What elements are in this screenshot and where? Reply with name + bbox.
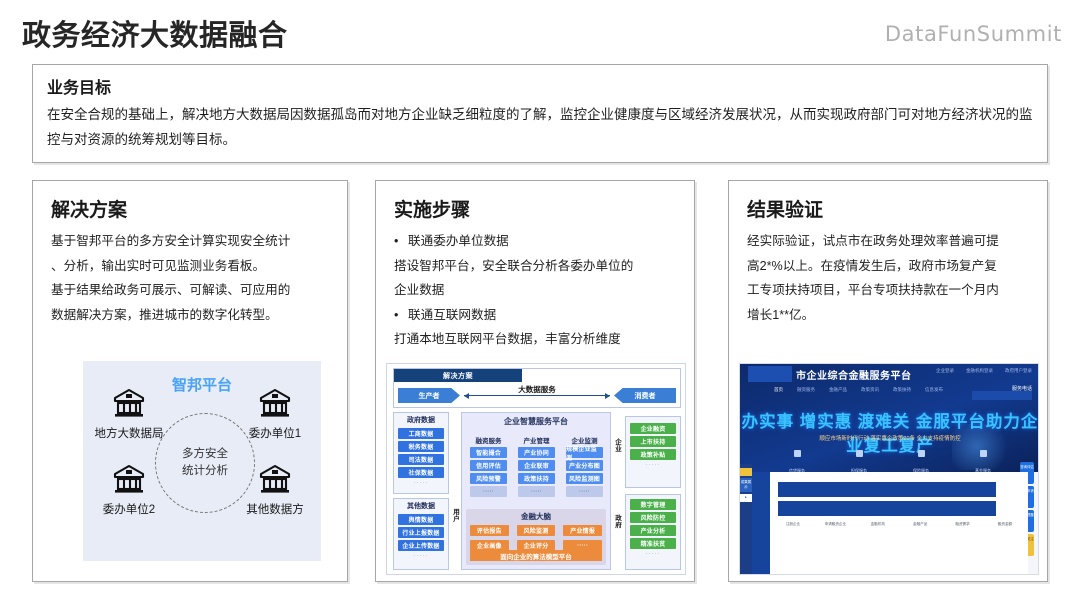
top-link[interactable]: 政府用户登录 [1005,368,1032,374]
center-header: 企业智慧服务平台 [462,413,610,427]
stat-card-caption: 金融机构 [859,522,897,527]
chip: 行业上报数据 [398,527,444,538]
site-stat-cards: 注册企业 申请融资企业 金融机构 金融产品 融资需求 融资金额 [774,522,1024,529]
arch-solution-tag: 解决方案 [394,369,522,382]
panel-result: 结果验证 经实际验证，试点市在政务处理效率普遍可提 高2*%以上。在疫情发生后，… [728,180,1048,582]
chip: 信用评估 [470,460,507,471]
column-header: 其他数据 [394,499,448,512]
brain-header: 金融大脑 [466,509,606,523]
chip: 司法数据 [398,454,444,465]
architecture-diagram-image: 解决方案 生产者 大数据服务 消费者 政府数据 工商数据 税务数据 司法数据 社… [386,363,686,575]
chip: 产业协同 [518,447,555,458]
top-link[interactable]: 金融机构登录 [966,368,993,374]
step-text: 联通委办单位数据 [408,234,509,248]
site-side-band [752,472,770,575]
panel-result-title: 结果验证 [747,195,823,222]
column-more: ····· [394,553,448,559]
arch-other-data-column: 其他数据 舆情数据 行业上报数据 企业上传数据 ····· [393,498,449,570]
stat-card-caption: 融资金额 [986,522,1024,527]
top-link[interactable]: 企业登录 [936,368,954,374]
chip: 工商数据 [398,428,444,439]
column-header: 政府数据 [394,413,448,426]
panel-steps-body: •联通委办单位数据 搭设智邦平台，安全联合分析各委办单位的 企业数据 •联通互联… [394,229,680,352]
arch-center-platform: 企业智慧服务平台 融资服务 智能撮合 信用评估 风险预警 ····· 产业管理 … [461,412,611,570]
menu-item[interactable]: 融资服务 [797,387,815,393]
arch-government-column: 数字管理 风险防控 产业分析 精准扶贫 ····· [625,494,681,570]
chip: 规模企业监测 [566,447,603,458]
business-goal-text: 在安全合规的基础上，解决地方大数据局因数据孤岛而对地方企业缺乏细粒度的了解，监控… [47,103,1033,153]
chip: ····· [518,486,555,497]
chip: 智能撮合 [470,447,507,458]
zhibang-platform-diagram: 智邦平台 多方安全 统计分析 地方大数据局 [83,361,321,561]
chip: 评估报告 [470,525,509,536]
slide-root: 政务经济大数据融合 DataFunSummit 业务目标 在安全合规的基础上，解… [0,0,1080,608]
site-name: 市企业综合金融服务平台 [796,367,912,382]
stat-card-caption: 申请融资企业 [816,522,854,527]
node-label: 委办单位2 [103,504,155,516]
bank-icon [85,388,173,423]
result-line-3: 工专项扶持项目，平台专项扶持款在一个月内 [747,278,1033,303]
fund-icon [980,450,987,457]
bullet-icon: • [394,229,408,254]
page-title: 政务经济大数据融合 [22,12,288,54]
stat-card-applicants[interactable]: 申请融资企业 [816,522,854,529]
right-rail-label: 咨询评估 [1020,465,1034,469]
site-subline: 顺应市场新时代行动 落实惠企政策20条 全力支持疫情防控 [740,434,1039,442]
chip: 社保数据 [398,467,444,478]
chip: 政策扶持 [518,473,555,484]
panel-solution: 解决方案 基于智邦平台的多方安全计算实现安全统计 、分析，输出实时可见监测业务看… [32,180,348,582]
site-hotline-box [972,391,1032,400]
group-header: 产业管理 [514,435,559,445]
mpc-line-1: 多方安全 [182,446,228,463]
bank-icon [85,464,173,499]
node-other-data-party: 其他数据方 [231,464,319,518]
solution-line-1: 基于智邦平台的多方安全计算实现安全统计 [51,229,333,254]
panel-steps: 实施步骤 •联通委办单位数据 搭设智邦平台，安全联合分析各委办单位的 企业数据 … [375,180,695,582]
chip: 风险防控 [630,512,676,523]
chip: 税务数据 [398,441,444,452]
stat-card-caption: 注册企业 [774,522,812,527]
step-line-5: 打通本地互联网平台数据，丰富分析维度 [394,327,680,352]
node-label: 委办单位1 [249,428,301,440]
platform-website-screenshot: 市企业综合金融服务平台 企业登录 金融机构登录 政府用户登录 首页 融资服务 金… [739,363,1039,575]
solution-line-2: 、分析，输出实时可见监测业务看板。 [51,254,333,279]
arch-enterprise-label: 企业 [614,440,623,454]
chip: ····· [566,486,603,497]
node-label: 其他数据方 [246,504,304,516]
insurance-icon [918,450,925,457]
stat-card-registered[interactable]: 注册企业 [774,522,812,529]
business-goal-box: 业务目标 在安全合规的基础上，解决地方大数据局因数据孤岛而对地方企业缺乏细粒度的… [32,64,1048,163]
chip: 上市扶持 [630,436,676,447]
step-text: 联通互联网数据 [408,308,496,322]
stat-card-products[interactable]: 金融产品 [901,522,939,529]
panel-solution-title: 解决方案 [51,195,127,222]
arch-user-label: 用户 [452,510,461,524]
panel-solution-body: 基于智邦平台的多方安全计算实现安全统计 、分析，输出实时可见监测业务看板。 基于… [51,229,333,327]
chip: 产业情报 [563,525,602,536]
menu-item[interactable]: 金融产品 [829,387,847,393]
bullet-icon: • [394,303,408,328]
slide-header: 政务经济大数据融合 DataFunSummit [0,0,1080,58]
arch-enterprise-column: 企业融资 上市扶持 政策补贴 ····· [625,416,681,488]
chip: 产业分布图 [566,460,603,471]
step-line-1: •联通委办单位数据 [394,229,680,254]
site-headline: 办实事 增实惠 渡难关 金服平台助力企业复工复产 [740,408,1039,456]
chip: 企业融资 [630,423,676,434]
chip: 企业上传数据 [398,540,444,551]
arch-government-label: 政府 [614,516,623,530]
menu-item[interactable]: 信息发布 [925,387,943,393]
solution-line-4: 数据解决方案，推进城市的数字化转型。 [51,303,333,328]
menu-item[interactable]: 政策资讯 [861,387,879,393]
chip: 风险监测图 [566,473,603,484]
chevron-right-icon[interactable]: ▸ [740,494,752,502]
brand-logo: DataFunSummit [885,22,1062,46]
site-main-menu: 首页 融资服务 金融产品 政策资讯 政策扶持 信息发布 [774,387,943,393]
column-more: ····· [626,551,680,557]
business-goal-title: 业务目标 [47,74,1033,98]
arch-group-financing: 融资服务 智能撮合 信用评估 风险预警 ····· [466,435,511,499]
node-committee-unit-2: 委办单位2 [85,464,173,518]
step-line-3: 企业数据 [394,278,680,303]
chip: 数字管理 [630,499,676,510]
chip: 风险预警 [470,473,507,484]
menu-item[interactable]: 政策扶持 [893,387,911,393]
menu-item-home[interactable]: 首页 [774,387,783,393]
arch-group-industry: 产业管理 产业协同 企业联审 政策扶持 ····· [514,435,559,499]
result-line-1: 经实际验证，试点市在政务处理效率普遍可提 [747,229,1033,254]
site-banner-row-1 [778,482,996,497]
result-line-2: 高2*%以上。在疫情发生后，政府市场复产复 [747,254,1033,279]
stat-card-institutions[interactable]: 金融机构 [859,522,897,529]
column-more: ····· [394,480,448,486]
chip: 政策补贴 [630,449,676,460]
arch-flow-arrow [464,395,610,396]
trophy-icon[interactable] [740,468,752,476]
step-line-2: 搭设智邦平台，安全联合分析各委办单位的 [394,254,680,279]
arch-top-band: 解决方案 生产者 大数据服务 消费者 [393,368,681,408]
stat-card-caption: 金融产品 [901,522,939,527]
chip: 风险监测 [517,525,556,536]
column-more: ····· [626,462,680,468]
chip: 精准扶贫 [630,538,676,549]
stat-card-amount[interactable]: 融资金额 [986,522,1024,529]
arch-algorithm-platform-bar: 面向企业的算法模型平台 [470,550,602,561]
node-label: 地方大数据局 [95,428,164,440]
bank-icon [231,388,319,423]
site-top-links: 企业登录 金融机构登录 政府用户登录 [936,368,1032,374]
step-line-4: •联通互联网数据 [394,303,680,328]
chip: ····· [470,486,507,497]
site-banner-row-2 [778,501,996,516]
panel-result-body: 经实际验证，试点市在政务处理效率普遍可提 高2*%以上。在疫情发生后，政府市场复… [747,229,1033,327]
chip: 产业分析 [630,525,676,536]
arch-consumer: 消费者 [614,388,676,403]
site-topbar: 市企业综合金融服务平台 企业登录 金融机构登录 政府用户登录 [740,364,1039,384]
site-content-area: 注册企业 申请融资企业 金融机构 金融产品 融资需求 融资金额 [752,472,1028,575]
node-local-bigdata-bureau: 地方大数据局 [85,388,173,442]
arch-gov-data-column: 政府数据 工商数据 税务数据 司法数据 社保数据 ····· [393,412,449,494]
arch-financial-brain: 金融大脑 评估报告 风险监测 产业情报 企业画像 企业评分 ····· 面向企业… [466,509,606,565]
brain-row-1: 评估报告 风险监测 产业情报 [466,523,606,538]
result-line-4: 增长1**亿。 [747,303,1033,328]
site-hero-banner: 市企业综合金融服务平台 企业登录 金融机构登录 政府用户登录 首页 融资服务 金… [740,364,1039,472]
guarantee-icon [856,450,863,457]
left-rail-label[interactable]: 成果展示 [740,478,752,492]
node-committee-unit-1: 委办单位1 [231,388,319,442]
bank-icon [231,464,319,499]
site-left-rail: 成果展示 ▸ [740,464,752,575]
group-header: 融资服务 [466,435,511,445]
panel-steps-title: 实施步骤 [394,195,470,222]
site-logo [748,366,792,382]
arch-group-monitoring: 企业监测 规模企业监测 产业分布图 风险监测图 ····· [562,435,607,499]
stat-card-caption: 融资需求 [944,522,982,527]
mpc-line-2: 统计分析 [182,463,228,480]
chip: 舆情数据 [398,514,444,525]
chip: 企业联审 [518,460,555,471]
credit-icon [794,450,801,457]
stat-card-demand[interactable]: 融资需求 [944,522,982,529]
solution-line-3: 基于结果给政务可展示、可解读、可应用的 [51,278,333,303]
